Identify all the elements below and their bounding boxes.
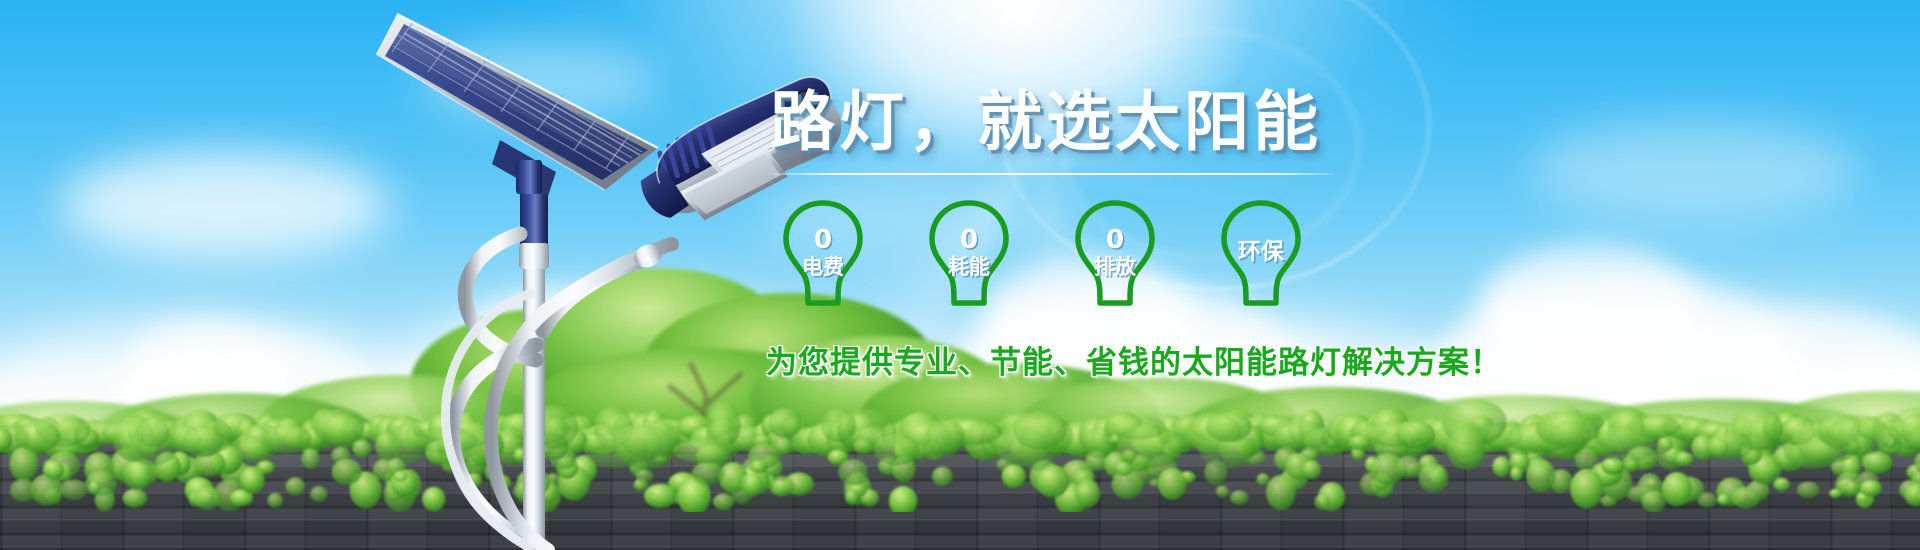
feature-badge: 0 耗能 <box>926 199 1012 307</box>
title-divider <box>772 173 1334 175</box>
wall-cap <box>0 431 1920 443</box>
cloud-wisp-icon <box>60 150 390 260</box>
cloud-wisp-icon <box>1530 120 1860 220</box>
badge-label: 环保 <box>1238 240 1284 266</box>
tiled-wall-icon <box>0 438 1920 550</box>
feature-badge: 环保 <box>1218 199 1304 307</box>
badge-number: 0 <box>960 227 978 253</box>
feature-badge: 0 电费 <box>780 199 866 307</box>
badge-label: 电费 <box>802 256 844 279</box>
badge-number: 0 <box>814 227 832 253</box>
badge-label: 耗能 <box>948 256 990 279</box>
page-title: 路灯，就选太阳能 <box>770 90 1480 155</box>
cloud-wisp-icon <box>420 40 660 120</box>
banner-subtitle: 为您提供专业、节能、省钱的太阳能路灯解决方案！ <box>766 337 1480 382</box>
badge-number: 0 <box>1106 227 1124 253</box>
feature-badge-list: 0 电费 0 耗能 0 排放 环保 <box>780 199 1480 307</box>
feature-badge: 0 排放 <box>1072 199 1158 307</box>
badge-label: 排放 <box>1094 256 1136 279</box>
solar-street-light-banner: [] <box>0 0 1920 550</box>
banner-copy: 路灯，就选太阳能 0 电费 0 耗能 0 <box>770 90 1480 382</box>
